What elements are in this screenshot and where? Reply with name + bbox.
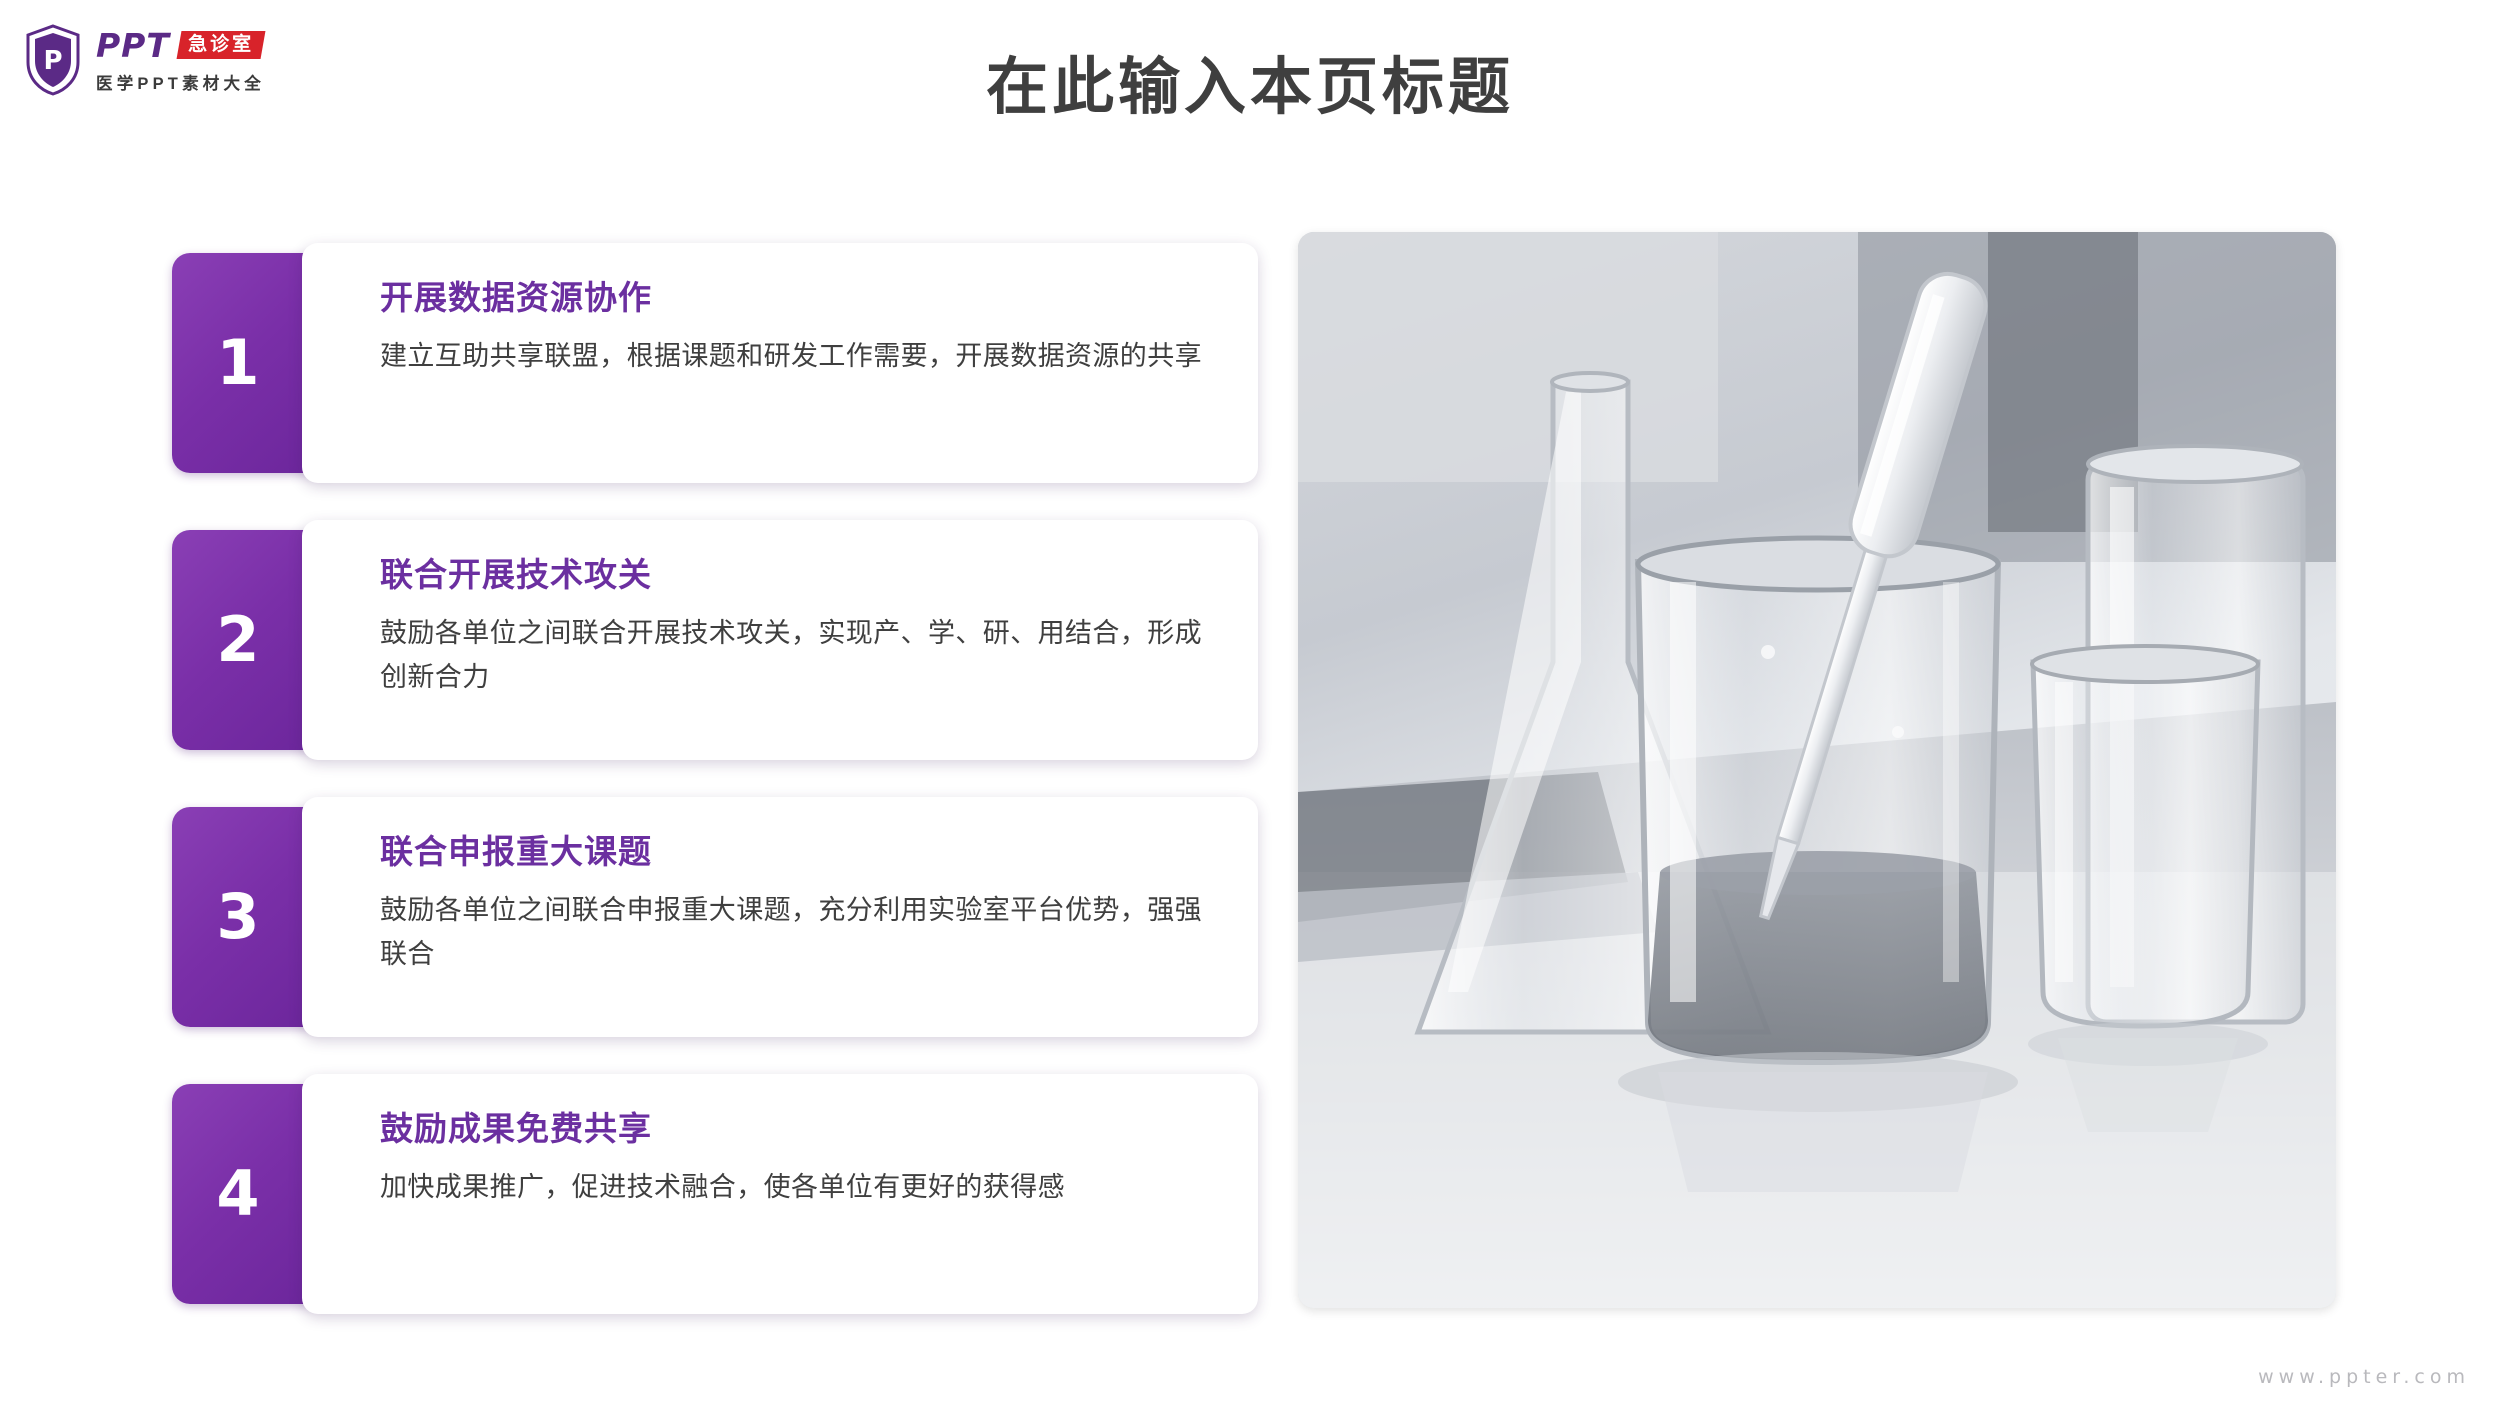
laboratory-glassware-photo xyxy=(1298,232,2336,1308)
page-title: 在此输入本页标题 xyxy=(0,36,2500,126)
list-item-number: 1 xyxy=(216,332,259,394)
list-item-number: 2 xyxy=(216,609,259,671)
list-item-number: 4 xyxy=(216,1163,259,1225)
list-item-card[interactable]: 联合申报重大课题 鼓励各单位之间联合申报重大课题，充分利用实验室平台优势，强强联… xyxy=(302,797,1258,1037)
list-item-title: 鼓励成果免费共享 xyxy=(380,1102,1218,1150)
list-item-description: 鼓励各单位之间联合开展技术攻关，实现产、学、研、用结合，形成创新合力 xyxy=(380,612,1218,699)
list-item-description: 鼓励各单位之间联合申报重大课题，充分利用实验室平台优势，强强联合 xyxy=(380,889,1218,976)
list-item[interactable]: 4 鼓励成果免费共享 加快成果推广，促进技术融合，使各单位有更好的获得感 xyxy=(172,1074,1258,1314)
list-item-card[interactable]: 开展数据资源协作 建立互助共享联盟，根据课题和研发工作需要，开展数据资源的共享 xyxy=(302,243,1258,483)
list-item[interactable]: 2 联合开展技术攻关 鼓励各单位之间联合开展技术攻关，实现产、学、研、用结合，形… xyxy=(172,520,1258,760)
list-item-card[interactable]: 联合开展技术攻关 鼓励各单位之间联合开展技术攻关，实现产、学、研、用结合，形成创… xyxy=(302,520,1258,760)
list-item-title: 联合申报重大课题 xyxy=(380,825,1218,873)
list-item[interactable]: 1 开展数据资源协作 建立互助共享联盟，根据课题和研发工作需要，开展数据资源的共… xyxy=(172,243,1258,483)
list-item-description: 建立互助共享联盟，根据课题和研发工作需要，开展数据资源的共享 xyxy=(380,335,1218,379)
footer-url: www.ppter.com xyxy=(2258,1366,2470,1388)
list-item-card[interactable]: 鼓励成果免费共享 加快成果推广，促进技术融合，使各单位有更好的获得感 xyxy=(302,1074,1258,1314)
list-item-title: 联合开展技术攻关 xyxy=(380,548,1218,596)
list-item-number: 3 xyxy=(216,886,259,948)
list-item[interactable]: 3 联合申报重大课题 鼓励各单位之间联合申报重大课题，充分利用实验室平台优势，强… xyxy=(172,797,1258,1037)
feature-list: 1 开展数据资源协作 建立互助共享联盟，根据课题和研发工作需要，开展数据资源的共… xyxy=(172,243,1258,1313)
list-item-title: 开展数据资源协作 xyxy=(380,271,1218,319)
list-item-description: 加快成果推广，促进技术融合，使各单位有更好的获得感 xyxy=(380,1166,1218,1210)
